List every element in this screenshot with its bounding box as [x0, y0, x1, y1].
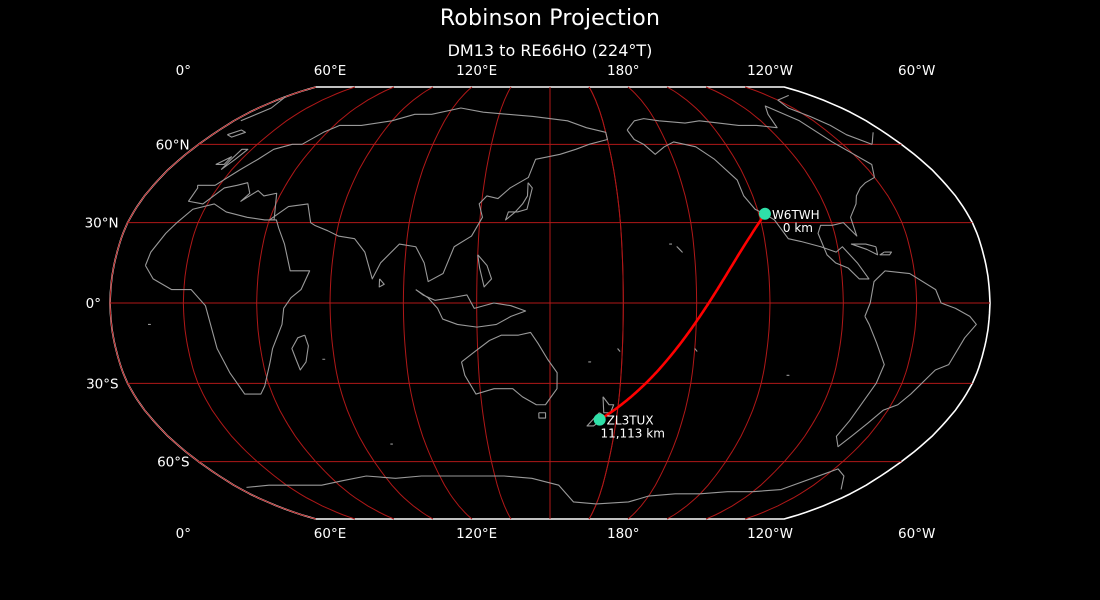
coastline-path — [241, 97, 285, 121]
coastline-path — [836, 271, 976, 447]
lon-tick-bottom-2: 180° — [607, 526, 640, 542]
coastline-path — [880, 252, 892, 255]
robinson-map-canvas[interactable]: W6TWH0 kmZL3TUX11,113 km60°E60°E120°E120… — [0, 0, 1100, 600]
coastline-path — [416, 290, 526, 328]
endpoint-marker-end[interactable] — [594, 414, 606, 426]
lon-tick-bottom-1: 120°E — [456, 526, 497, 542]
lon-tick-bottom-0: 60°E — [314, 526, 346, 542]
endpoint-distance-start: 0 km — [783, 221, 813, 235]
coastline-path — [478, 255, 492, 287]
lon-tick-top-1: 120°E — [456, 63, 497, 79]
lat-tick-1: 30°N — [85, 216, 119, 232]
lon-tick-bottom-4: 60°W — [898, 526, 935, 542]
coastline-path — [596, 469, 844, 504]
lon-tick-top-5: 0° — [176, 63, 191, 79]
lat-tick-0: 60°N — [156, 137, 190, 153]
coastline-path — [851, 244, 877, 255]
coastline-path — [292, 335, 309, 370]
coastline-path — [872, 132, 873, 144]
lat-tick-2: 0° — [86, 296, 101, 312]
lon-tick-top-0: 60°E — [314, 63, 346, 79]
coastline-path — [379, 279, 384, 287]
lat-tick-3: 30°S — [86, 376, 119, 392]
coastline-path — [539, 413, 546, 418]
map-figure: Robinson Projection DM13 to RE66HO (224°… — [0, 0, 1100, 600]
lon-tick-top-2: 180° — [607, 63, 640, 79]
endpoint-marker-start[interactable] — [759, 208, 771, 220]
lon-tick-bottom-5: 0° — [176, 526, 191, 542]
endpoint-callsign-start: W6TWH — [772, 208, 820, 222]
lat-tick-4: 60°S — [157, 455, 190, 471]
coastline-path — [618, 349, 620, 352]
graticule — [110, 87, 990, 519]
lon-tick-top-3: 120°W — [747, 63, 793, 79]
coastline-path — [227, 130, 245, 137]
coastlines — [145, 95, 976, 504]
lon-tick-bottom-3: 120°W — [747, 526, 793, 542]
great-circle-path[interactable] — [600, 214, 765, 420]
endpoint-distance-end: 11,113 km — [600, 427, 664, 441]
coastline-path — [246, 476, 596, 504]
endpoint-callsign-end: ZL3TUX — [607, 414, 654, 428]
coastline-path — [145, 204, 309, 394]
coastline-path — [462, 332, 558, 404]
lon-tick-top-4: 60°W — [898, 63, 935, 79]
coastline-path — [189, 108, 608, 282]
coastline-path — [677, 247, 682, 252]
great-circle-segment — [600, 214, 765, 420]
